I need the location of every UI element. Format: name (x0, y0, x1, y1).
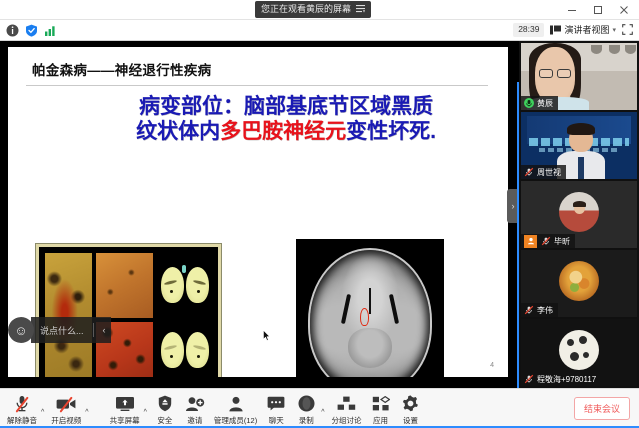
slide-page-number: 4 (490, 362, 494, 369)
participant-name: 李伟 (537, 305, 553, 316)
toolbar-item-label: 设置 (403, 415, 418, 426)
chat-input-placeholder: 说点什么... (40, 324, 84, 337)
chevron-left-icon[interactable]: ‹ (103, 325, 106, 335)
microphone-muted-icon (12, 395, 32, 413)
network-quality-icon[interactable] (44, 24, 57, 37)
toolbar-item-label: 解除静音 (7, 415, 37, 426)
shared-screen-area[interactable]: 帕金森病——神经退行性疾病 病变部位：脑部基底节区域黑质 纹状体内多巴胺神经元变… (0, 41, 519, 388)
video-off-icon (56, 395, 76, 413)
screen-share-notice-text: 您正在观看黄辰的屏幕 (261, 5, 351, 14)
avatar (559, 192, 599, 232)
close-button[interactable] (611, 0, 637, 20)
toolbar-item-label: 安全 (157, 415, 172, 426)
participant-tile[interactable]: 程敬海+9780117 (521, 319, 637, 386)
invite-button[interactable]: 邀请 (180, 393, 210, 428)
participant-video-strip: 黄辰 周世视 毕昕 (519, 41, 639, 388)
apps-button[interactable]: 应用 (366, 393, 396, 428)
participant-name: 程敬海+9780117 (537, 374, 596, 385)
substantia-nigra-histology-figure (36, 244, 221, 377)
participants-icon (226, 395, 246, 413)
participant-name-badge: 程敬海+9780117 (521, 372, 601, 386)
maximize-button[interactable] (585, 0, 611, 20)
end-meeting-button[interactable]: 结束会议 (574, 397, 630, 420)
slide-body-line1: 病变部位：脑部基底节区域黑质 (139, 95, 433, 118)
mri-lesion-marker (360, 308, 369, 326)
security-button[interactable]: 安全 (150, 393, 180, 428)
participant-tile[interactable]: 李伟 (521, 250, 637, 317)
toolbar-item-label: 共享屏幕 (110, 415, 140, 426)
manage-participants-button[interactable]: 管理成员(12) (210, 393, 261, 428)
slide-body-line2: 纹状体内多巴胺神经元变性坏死. (86, 120, 486, 145)
fullscreen-icon[interactable] (622, 24, 633, 35)
chat-bubble-icon (267, 395, 285, 413)
participant-name: 毕昕 (554, 236, 570, 247)
breakout-rooms-icon (337, 395, 356, 413)
meeting-timer: 28:39 (513, 23, 544, 36)
meeting-controls-right: 28:39 演讲者视图 ▾ (513, 23, 639, 36)
mic-on-icon (524, 98, 534, 108)
toolbar-item-label: 邀请 (187, 415, 202, 426)
minimize-button[interactable] (559, 0, 585, 20)
share-screen-button[interactable]: 共享屏幕 (106, 393, 144, 428)
avatar (559, 330, 599, 370)
participant-tile[interactable]: 周世视 (521, 112, 637, 179)
screen-share-notice: 您正在观看黄辰的屏幕 (255, 1, 371, 18)
brain-slice-normal (160, 265, 210, 305)
participant-name-badge: 黄辰 (521, 96, 558, 110)
toolbar-item-label: 录制 (299, 415, 314, 426)
toolbar-item-label: 分组讨论 (332, 415, 362, 426)
participant-name-badge: 周世视 (521, 165, 566, 179)
participant-tile[interactable]: 黄辰 (521, 43, 637, 110)
histology-image-1 (45, 253, 92, 377)
slide-divider (26, 85, 488, 86)
window-controls (559, 0, 637, 20)
participant-name-badge: 毕昕 (521, 234, 575, 248)
view-mode-label: 演讲者视图 (564, 23, 609, 36)
hamburger-menu-icon[interactable] (356, 5, 365, 15)
meeting-info-icons (0, 24, 57, 37)
brain-section-images (157, 253, 212, 377)
smiley-icon[interactable]: ☺ (8, 317, 34, 343)
chevron-down-icon: ▾ (612, 26, 616, 34)
zoom-meeting-window: 您正在观看黄辰的屏幕 (0, 0, 639, 428)
histology-image-2 (96, 253, 153, 318)
start-video-button[interactable]: 开启视频 (47, 393, 85, 428)
mri-brain-outline (310, 250, 430, 378)
mic-muted-icon (524, 374, 534, 384)
slide-body-text: 病变部位：脑部基底节区域黑质 纹状体内多巴胺神经元变性坏死. (86, 95, 486, 145)
toolbar-item-label: 开启视频 (51, 415, 81, 426)
apps-icon (372, 395, 390, 413)
meeting-toolbar: 解除静音 ^ 开启视频 ^ 共享屏幕 ^ (0, 388, 639, 428)
participant-name: 黄辰 (537, 98, 553, 109)
participant-name-badge: 李伟 (521, 303, 558, 317)
record-icon (298, 395, 315, 413)
participant-name: 周世视 (537, 167, 561, 178)
toolbar-item-label: 应用 (373, 415, 388, 426)
slide-title: 帕金森病——神经退行性疾病 (32, 59, 211, 79)
brain-mri-axial-figure (296, 239, 444, 377)
slide-body-line2-before: 纹状体内 (136, 120, 220, 143)
security-shield-icon (158, 395, 172, 413)
brain-slice-parkinson (160, 330, 210, 370)
settings-gear-icon (402, 395, 419, 413)
mic-muted-icon (524, 305, 534, 315)
chat-overlay-divider (93, 323, 94, 337)
breakout-rooms-button[interactable]: 分组讨论 (328, 393, 366, 428)
speaker-view-icon (550, 25, 561, 35)
host-icon (524, 235, 537, 248)
mic-muted-icon (541, 236, 551, 246)
chat-button[interactable]: 聊天 (261, 393, 291, 428)
view-mode-selector[interactable]: 演讲者视图 ▾ (550, 23, 616, 36)
slide-body-line2-after: 变性坏死. (346, 120, 436, 143)
toolbar-item-label: 聊天 (269, 415, 284, 426)
shield-icon[interactable] (25, 24, 38, 37)
chat-input-overlay[interactable]: 说点什么... ‹ (31, 317, 111, 343)
settings-button[interactable]: 设置 (396, 393, 426, 428)
mic-muted-icon (524, 167, 534, 177)
info-icon[interactable] (6, 24, 19, 37)
share-screen-icon (115, 395, 135, 413)
screen-share-chat-overlay[interactable]: ☺ 说点什么... ‹ (8, 317, 111, 343)
participant-tile[interactable]: 毕昕 (521, 181, 637, 248)
mouse-cursor (263, 330, 270, 341)
record-button[interactable]: 录制 (291, 393, 321, 428)
avatar (559, 261, 599, 301)
toolbar-items: 解除静音 ^ 开启视频 ^ 共享屏幕 ^ (0, 389, 426, 428)
invite-user-icon (185, 395, 205, 413)
unmute-button[interactable]: 解除静音 (3, 393, 41, 428)
window-title-bar: 您正在观看黄辰的屏幕 (0, 0, 639, 20)
meeting-info-bar: 28:39 演讲者视图 ▾ (0, 20, 639, 41)
slide-body-highlight: 多巴胺神经元 (220, 120, 346, 143)
toolbar-item-label: 管理成员(12) (214, 415, 257, 426)
